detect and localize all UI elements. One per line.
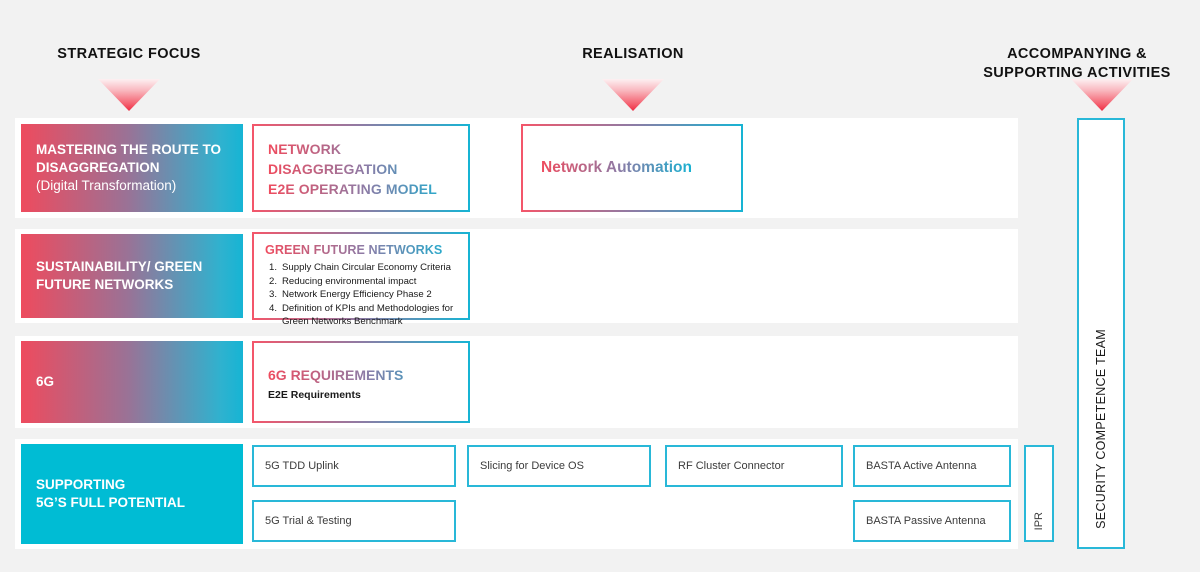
- list-item: 1.Supply Chain Circular Economy Criteria: [265, 261, 457, 275]
- realisation-box-network-automation[interactable]: Network Automation: [521, 124, 743, 212]
- supporting-box-5g-tdd-uplink[interactable]: 5G TDD Uplink: [252, 445, 456, 487]
- row-6g: 6G 6G REQUIREMENTS E2E Requirements: [15, 336, 1018, 428]
- category-block-disaggregation: MASTERING THE ROUTE TO DISAGGREGATION (D…: [21, 124, 243, 212]
- down-arrow-icon-strategic: [98, 79, 160, 111]
- box-label: RF Cluster Connector: [678, 460, 784, 472]
- down-arrow-icon-accompanying: [1071, 79, 1133, 111]
- row-supporting-5g-full-potential: SUPPORTING 5G’S FULL POTENTIAL 5G TDD Up…: [15, 439, 1018, 549]
- focus-box-6g-requirements[interactable]: 6G REQUIREMENTS E2E Requirements: [252, 341, 470, 423]
- realisation-box-label: Network Automation: [541, 159, 692, 177]
- ipr-box[interactable]: IPR: [1024, 445, 1054, 542]
- focus-box-network-disaggregation[interactable]: NETWORK DISAGGREGATION E2E OPERATING MOD…: [252, 124, 470, 212]
- category-block-6g: 6G: [21, 341, 243, 423]
- box-label: BASTA Passive Antenna: [866, 515, 986, 527]
- category-subtitle: (Digital Transformation): [36, 178, 176, 193]
- supporting-box-basta-active-antenna[interactable]: BASTA Active Antenna: [853, 445, 1011, 487]
- list-item: 2.Reducing environmental impact: [265, 275, 457, 289]
- focus-box-green-future-networks[interactable]: GREEN FUTURE NETWORKS 1.Supply Chain Cir…: [252, 232, 470, 320]
- header-realisation: REALISATION: [522, 45, 744, 64]
- category-title: 6G: [36, 373, 54, 391]
- focus-box-line3: E2E OPERATING MODEL: [268, 180, 454, 200]
- focus-box-line1: NETWORK: [268, 140, 454, 160]
- row-mastering-route-to-disaggregation: MASTERING THE ROUTE TO DISAGGREGATION (D…: [15, 118, 1018, 218]
- supporting-box-rf-cluster-connector[interactable]: RF Cluster Connector: [665, 445, 843, 487]
- category-title: MASTERING THE ROUTE TO DISAGGREGATION: [36, 142, 221, 175]
- category-title: SUSTAINABILITY/ GREEN FUTURE NETWORKS: [36, 258, 228, 294]
- header-strategic-focus: STRATEGIC FOCUS: [18, 45, 240, 64]
- category-block-supporting-5g: SUPPORTING 5G’S FULL POTENTIAL: [21, 444, 243, 544]
- list-item: 4.Definition of KPIs and Methodologies f…: [265, 302, 457, 329]
- row-sustainability-green-future-networks: SUSTAINABILITY/ GREEN FUTURE NETWORKS GR…: [15, 229, 1018, 323]
- green-future-networks-list: 1.Supply Chain Circular Economy Criteria…: [265, 261, 457, 329]
- box-label: BASTA Active Antenna: [866, 460, 976, 472]
- header-accompanying-line1: ACCOMPANYING &: [966, 45, 1188, 64]
- focus-box-heading: GREEN FUTURE NETWORKS: [265, 243, 457, 257]
- focus-box-detail: E2E Requirements: [268, 389, 454, 401]
- category-block-sustainability: SUSTAINABILITY/ GREEN FUTURE NETWORKS: [21, 234, 243, 318]
- box-label: 5G Trial & Testing: [265, 515, 352, 527]
- down-arrow-icon-realisation: [602, 79, 664, 111]
- category-title-line1: SUPPORTING: [36, 476, 185, 494]
- focus-box-line2: DISAGGREGATION: [268, 160, 454, 180]
- supporting-box-5g-trial-testing[interactable]: 5G Trial & Testing: [252, 500, 456, 542]
- category-title-line2: 5G’S FULL POTENTIAL: [36, 494, 185, 512]
- supporting-box-basta-passive-antenna[interactable]: BASTA Passive Antenna: [853, 500, 1011, 542]
- security-competence-team-column[interactable]: SECURITY COMPETENCE TEAM: [1077, 118, 1125, 549]
- list-item: 3.Network Energy Efficiency Phase 2: [265, 288, 457, 302]
- focus-box-heading: 6G REQUIREMENTS: [268, 367, 454, 383]
- security-competence-team-label: SECURITY COMPETENCE TEAM: [1094, 329, 1108, 529]
- ipr-label: IPR: [1033, 512, 1045, 530]
- supporting-box-slicing-device-os[interactable]: Slicing for Device OS: [467, 445, 651, 487]
- box-label: Slicing for Device OS: [480, 460, 584, 472]
- column-headers: STRATEGIC FOCUS REALISATION ACCOMPANYING…: [0, 0, 1200, 112]
- box-label: 5G TDD Uplink: [265, 460, 339, 472]
- header-accompanying-activities: ACCOMPANYING & SUPPORTING ACTIVITIES: [966, 45, 1188, 82]
